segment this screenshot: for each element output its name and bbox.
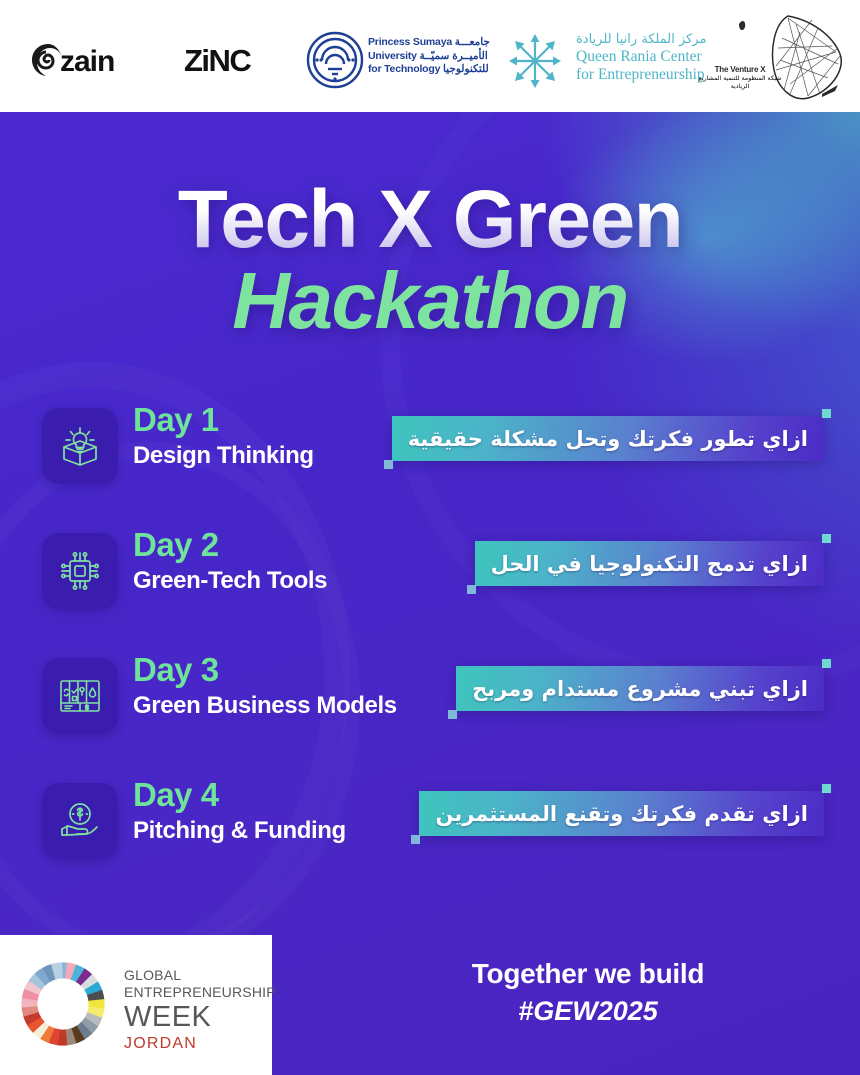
day-badge: ازاي تقدم فكرتك وتقنع المستثمرين xyxy=(419,791,824,836)
venture-x-logo: The Venture X شبكة المنظومة للتنمية المش… xyxy=(700,8,850,108)
day-row: Day 1 Design Thinking ازاي تطور فكرتك وت… xyxy=(0,394,860,519)
psut-logo-text: Princess Sumaya جامعـــة University الأم… xyxy=(368,36,490,77)
zain-logo: zain xyxy=(28,40,178,80)
tagline-primary: Together we build xyxy=(378,955,798,993)
gew-line-global: GLOBAL xyxy=(124,967,276,984)
day-text-block: Day 1 Design Thinking xyxy=(133,400,314,472)
day-badge-text: ازاي تبني مشروع مستدام ومربح xyxy=(472,675,808,703)
venture-x-arabic: شبكة المنظومة للتنمية المشاريع الريادية xyxy=(698,75,782,91)
svg-text:zain: zain xyxy=(60,45,114,78)
queen-rania-center-logo: مركز الملكة رانيا للريادة Queen Rania Ce… xyxy=(498,28,688,90)
poster-body: Tech X Green Hackathon Day 1 xyxy=(0,112,860,1075)
day-badge: ازاي تطور فكرتك وتحل مشكلة حقيقية xyxy=(392,416,824,461)
gew-line-entrepreneurship: ENTREPRENEURSHIP xyxy=(124,984,276,1001)
day-text-block: Day 2 Green-Tech Tools xyxy=(133,525,327,597)
qrce-line2: for Entrepreneurship xyxy=(576,66,706,84)
svg-text:ZiNC: ZiNC xyxy=(184,43,251,78)
gew-logo-card: GLOBAL ENTREPRENEURSHIP WEEK JORDAN xyxy=(0,935,272,1075)
day-text-block: Day 3 Green Business Models xyxy=(133,650,397,722)
title-line-2: Hackathon xyxy=(0,258,860,344)
business-model-canvas-icon xyxy=(42,658,118,734)
svg-text:The Venture X: The Venture X xyxy=(715,65,767,74)
day-label: Day 1 xyxy=(133,400,314,440)
sponsor-logo-bar: zain ZiNC Princess Sumaya xyxy=(0,0,860,112)
poster-title: Tech X Green Hackathon xyxy=(0,182,860,344)
day-label: Day 3 xyxy=(133,650,397,690)
psut-line2-en: University xyxy=(368,50,417,62)
tagline-hashtag: #GEW2025 xyxy=(378,993,798,1029)
psut-line3-en: for Technology xyxy=(368,63,440,75)
psut-line1-ar: جامعـــة xyxy=(455,36,490,48)
gew-line-jordan: JORDAN xyxy=(124,1034,276,1054)
hand-money-icon xyxy=(42,783,118,859)
gew-line-week: WEEK xyxy=(124,1001,276,1034)
day-topic: Green Business Models xyxy=(133,690,397,722)
qrce-arabic: مركز الملكة رانيا للريادة xyxy=(576,32,706,48)
day-row: Day 4 Pitching & Funding ازاي تقدم فكرتك… xyxy=(0,769,860,894)
day-list: Day 1 Design Thinking ازاي تطور فكرتك وت… xyxy=(0,394,860,894)
qrce-line1: Queen Rania Center xyxy=(576,48,706,66)
day-row: Day 2 Green-Tech Tools ازاي تدمج التكنول… xyxy=(0,519,860,644)
day-badge-text: ازاي تطور فكرتك وتحل مشكلة حقيقية xyxy=(408,425,808,453)
day-badge-text: ازاي تدمج التكنولوجيا في الحل xyxy=(491,550,808,578)
day-label: Day 4 xyxy=(133,775,346,815)
day-topic: Green-Tech Tools xyxy=(133,565,327,597)
psut-logo: Princess Sumaya جامعـــة University الأم… xyxy=(306,30,492,88)
zinc-logo: ZiNC xyxy=(184,42,292,78)
psut-line3-ar: للتكنولوجيا xyxy=(443,63,489,75)
day-topic: Design Thinking xyxy=(133,440,314,472)
day-badge-text: ازاي تقدم فكرتك وتقنع المستثمرين xyxy=(435,800,808,828)
psut-line2-ar: الأميــرة سميّــة xyxy=(420,50,488,62)
day-text-block: Day 4 Pitching & Funding xyxy=(133,775,346,847)
day-badge: ازاي تبني مشروع مستدام ومربح xyxy=(456,666,824,711)
day-label: Day 2 xyxy=(133,525,327,565)
queen-rania-center-text: مركز الملكة رانيا للريادة Queen Rania Ce… xyxy=(576,32,706,84)
tagline-block: Together we build #GEW2025 xyxy=(378,955,798,1029)
day-badge: ازاي تدمج التكنولوجيا في الحل xyxy=(475,541,824,586)
title-line-1: Tech X Green xyxy=(0,182,860,258)
microchip-icon xyxy=(42,533,118,609)
gew-logo: GLOBAL ENTREPRENEURSHIP WEEK JORDAN xyxy=(18,957,258,1053)
day-row: Day 3 Green Business Models ازاي تبني مش… xyxy=(0,644,860,769)
day-topic: Pitching & Funding xyxy=(133,815,346,847)
lightbulb-box-icon xyxy=(42,408,118,484)
gew-logo-text: GLOBAL ENTREPRENEURSHIP WEEK JORDAN xyxy=(124,967,276,1054)
psut-line1-en: Princess Sumaya xyxy=(368,36,452,48)
